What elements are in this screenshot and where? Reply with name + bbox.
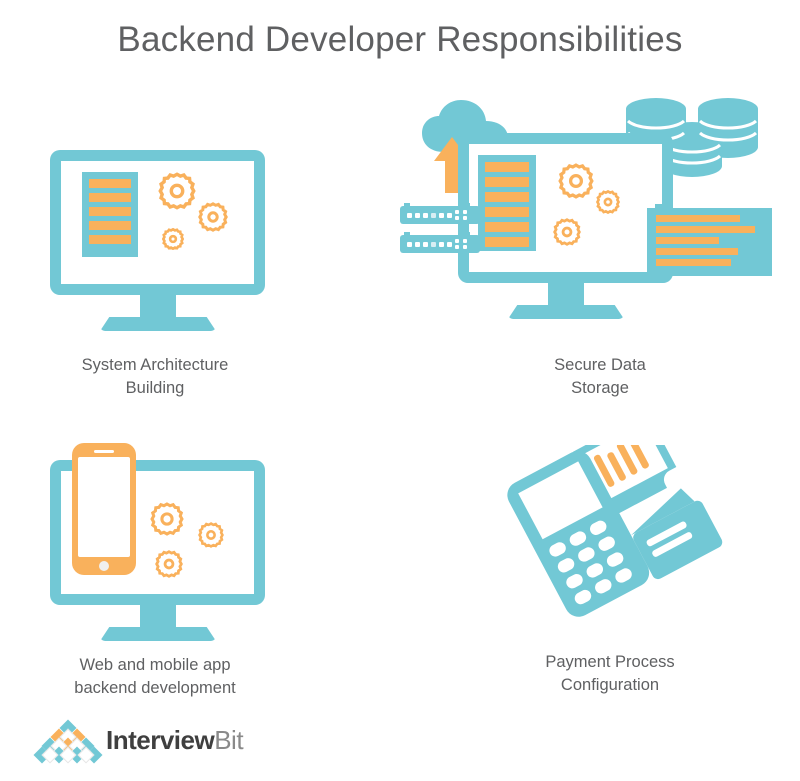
logo-wordmark: InterviewBit <box>106 725 243 756</box>
gear-small-icon <box>162 228 184 250</box>
code-panel-tab <box>655 204 667 209</box>
rack-bar <box>485 207 529 217</box>
page-title: Backend Developer Responsibilities <box>0 20 800 60</box>
card-label-line1: Payment Process <box>460 651 760 674</box>
logo-text-secondary: Bit <box>214 725 243 755</box>
gear-small-icon <box>155 550 183 578</box>
monitor-neck <box>140 295 176 317</box>
card-label-line1: Secure Data <box>400 354 800 377</box>
card-label-line1: System Architecture <box>0 354 310 377</box>
card-label-line2: backend development <box>0 677 310 700</box>
card-payment-process: Payment Process Configuration <box>460 445 760 697</box>
code-line <box>656 226 755 233</box>
monitor-graphic <box>50 150 265 340</box>
card-label: System Architecture Building <box>0 354 310 400</box>
rack-bar <box>485 177 529 187</box>
code-panel-tab <box>655 275 667 280</box>
card-label-line2: Configuration <box>460 674 760 697</box>
rack-bar <box>485 162 529 172</box>
code-panel-icon <box>647 208 772 276</box>
monitor-server-gears-icon <box>0 140 310 340</box>
infographic-page: Backend Developer Responsibilities <box>0 0 800 781</box>
card-system-architecture: System Architecture Building <box>0 140 310 400</box>
logo-text-primary: Interview <box>106 725 214 755</box>
rack-bar <box>89 207 131 216</box>
monitor-neck <box>548 283 584 305</box>
card-web-mobile-backend: Web and mobile app backend development <box>0 440 310 700</box>
card-label-line1: Web and mobile app <box>0 654 310 677</box>
gear-small-icon <box>553 218 581 246</box>
gear-large-icon <box>558 163 594 199</box>
interviewbit-logo[interactable]: InterviewBit <box>40 720 243 760</box>
rack-bar <box>485 237 529 247</box>
network-switch-icon <box>400 206 480 224</box>
monitor-cloud-database-icon <box>400 95 800 340</box>
gear-medium-icon <box>596 190 620 214</box>
card-label: Payment Process Configuration <box>460 651 760 697</box>
monitor-graphic <box>458 133 673 333</box>
rack-bar <box>485 222 529 232</box>
rack-bar <box>89 235 131 244</box>
server-rack-icon <box>82 172 138 257</box>
payment-terminal-graphic <box>470 445 750 635</box>
code-line <box>656 237 719 244</box>
server-rack-icon <box>478 155 536 251</box>
payment-terminal-icon <box>460 445 760 635</box>
network-switch-icon <box>400 235 480 253</box>
gear-large-icon <box>158 172 196 210</box>
phone-home-button-icon[interactable] <box>99 561 109 571</box>
rack-bar <box>89 221 131 230</box>
diamond-pyramid-logo-icon <box>40 720 96 760</box>
card-label: Web and mobile app backend development <box>0 654 310 700</box>
gear-medium-icon <box>198 202 228 232</box>
phone-speaker-icon <box>94 450 114 453</box>
rack-bar <box>89 193 131 202</box>
code-line <box>656 248 738 255</box>
phone-screen <box>78 457 130 557</box>
smartphone-icon <box>72 443 136 575</box>
code-line <box>656 259 731 266</box>
code-line <box>656 215 740 222</box>
rack-bar <box>89 179 131 188</box>
monitor-base <box>100 627 216 641</box>
card-label-line2: Storage <box>400 377 800 400</box>
gear-medium-icon <box>198 522 224 548</box>
rack-bar <box>485 192 529 202</box>
card-label-line2: Building <box>0 377 310 400</box>
monitor-neck <box>140 605 176 627</box>
monitor-base <box>508 305 624 319</box>
gear-large-icon <box>150 502 184 536</box>
card-label: Secure Data Storage <box>400 354 800 400</box>
card-secure-data-storage: Secure Data Storage <box>400 95 800 400</box>
monitor-base <box>100 317 216 331</box>
monitor-smartphone-gears-icon <box>0 440 310 640</box>
